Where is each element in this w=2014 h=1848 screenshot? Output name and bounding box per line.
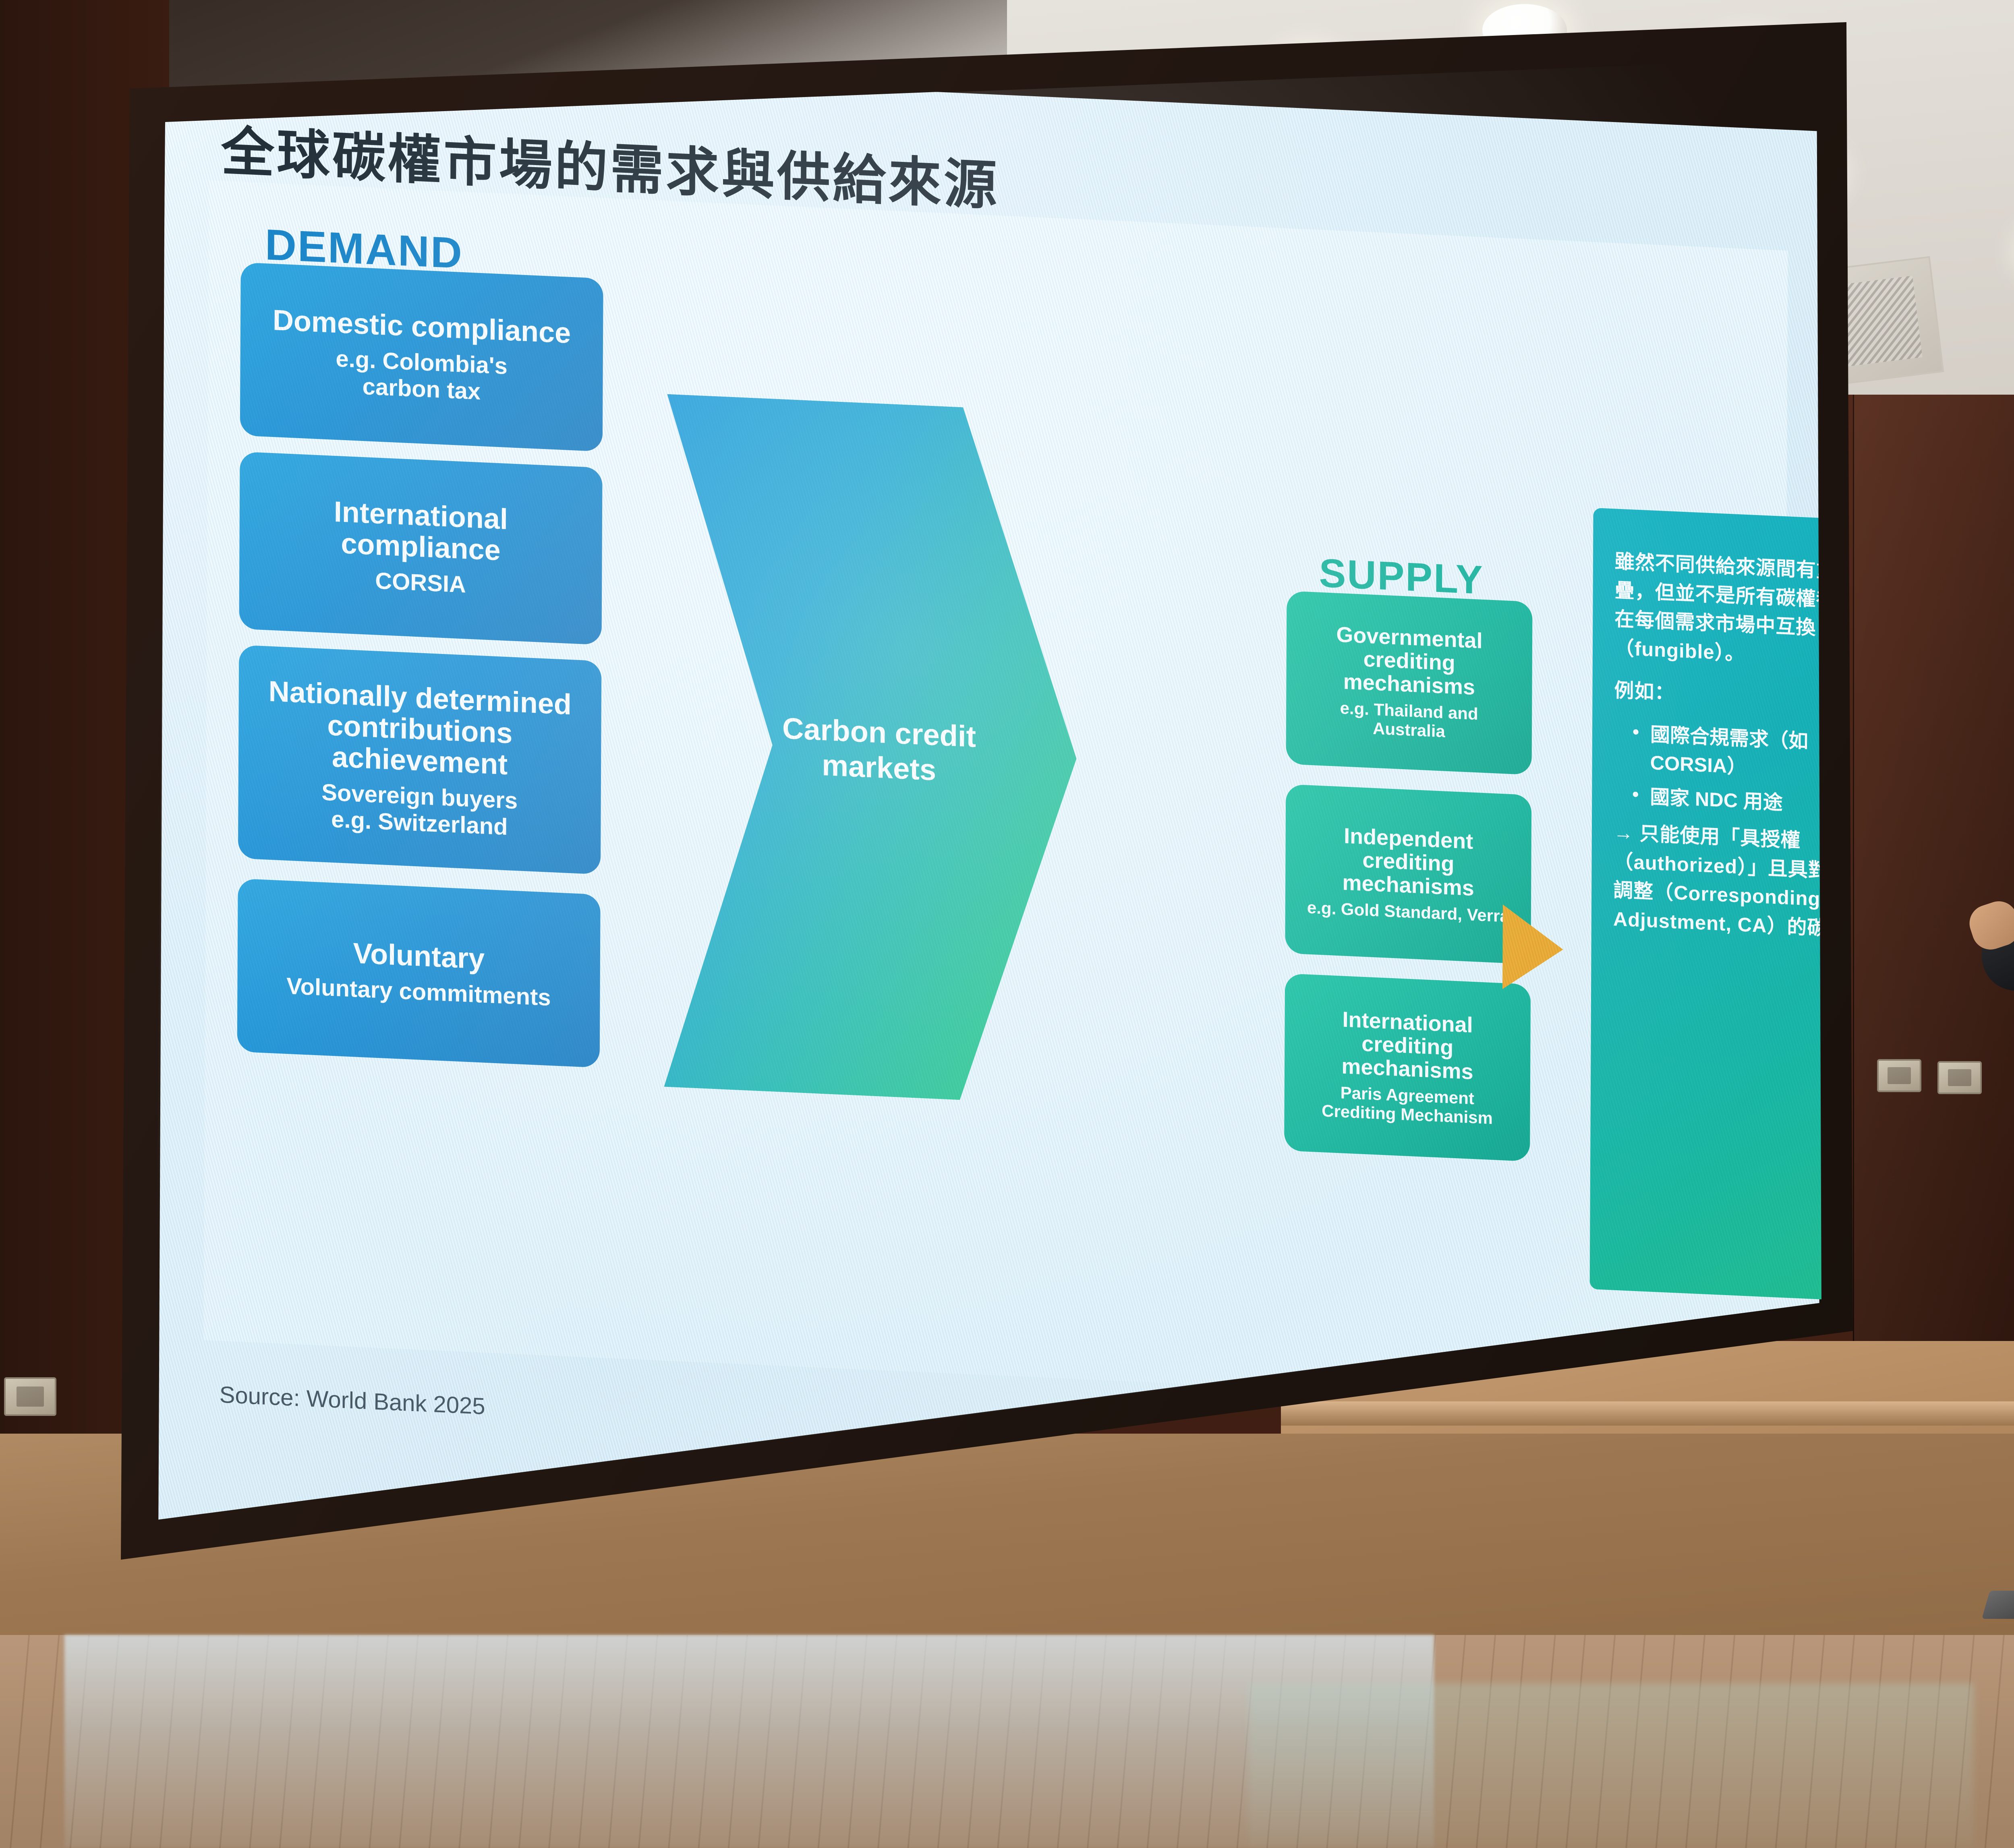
card-title: Voluntary — [353, 938, 485, 975]
wall-outlet-icon[interactable] — [4, 1377, 56, 1416]
card-subtitle: e.g. Gold Standard, Verra — [1307, 898, 1509, 926]
supply-card-international[interactable]: International crediting mechanisms Paris… — [1284, 973, 1531, 1161]
card-subtitle: Paris Agreement Crediting Mechanism — [1322, 1082, 1493, 1128]
demand-card-ndc-achievement[interactable]: Nationally determined contributions achi… — [238, 645, 601, 874]
card-title: Domestic compliance — [273, 305, 571, 350]
card-subtitle: Sovereign buyers e.g. Switzerland — [321, 779, 518, 841]
card-subtitle: e.g. Thailand and Australia — [1340, 698, 1478, 743]
slide-number: 6 — [1698, 1358, 1710, 1383]
floor-reflection-secondary — [1249, 1683, 1974, 1848]
supply-card-governmental[interactable]: Governmental crediting mechanisms e.g. T… — [1286, 591, 1533, 775]
card-title: Governmental crediting mechanisms — [1336, 623, 1483, 699]
note-paragraph: 雖然不同供給來源間有重疊，但並不是所有碳權都能在每個需求市場中互換（fungib… — [1614, 547, 1853, 674]
center-node-label: Carbon credit markets — [766, 710, 992, 790]
screen-surface: 全球碳權市場的需求與供給來源 DEMAND SUPPLY Domestic co… — [121, 22, 1853, 1560]
projection-screen: 全球碳權市場的需求與供給來源 DEMAND SUPPLY Domestic co… — [121, 22, 1853, 1593]
note-example-lead: 例如： — [1614, 677, 1853, 717]
source-citation: Source: World Bank 2025 — [220, 1381, 485, 1420]
card-subtitle: e.g. Colombia's carbon tax — [336, 346, 508, 406]
card-title: International compliance — [334, 497, 508, 567]
demand-card-domestic-compliance[interactable]: Domestic compliance e.g. Colombia's carb… — [240, 262, 603, 451]
right-arrow-icon — [1502, 904, 1563, 992]
card-title: Nationally determined contributions achi… — [268, 676, 572, 784]
note-panel: 雖然不同供給來源間有重疊，但並不是所有碳權都能在每個需求市場中互換（fungib… — [1590, 508, 1853, 1302]
floor-screen-reflection — [64, 1635, 1434, 1848]
presenter — [1966, 757, 2014, 1522]
card-title: International crediting mechanisms — [1341, 1008, 1473, 1084]
card-subtitle: Voluntary commitments — [286, 973, 551, 1011]
wall-outlet-icon[interactable] — [1877, 1059, 1921, 1092]
card-title: Independent crediting mechanisms — [1342, 824, 1474, 900]
note-conclusion: → 只能使用「具授權（authorized）」且具對應調整（Correspond… — [1613, 819, 1853, 945]
card-subtitle: CORSIA — [375, 567, 466, 598]
demand-card-international-compliance[interactable]: International compliance CORSIA — [239, 451, 603, 645]
supply-card-independent[interactable]: Independent crediting mechanisms e.g. Go… — [1285, 784, 1531, 964]
demand-card-voluntary[interactable]: Voluntary Voluntary commitments — [237, 878, 601, 1068]
